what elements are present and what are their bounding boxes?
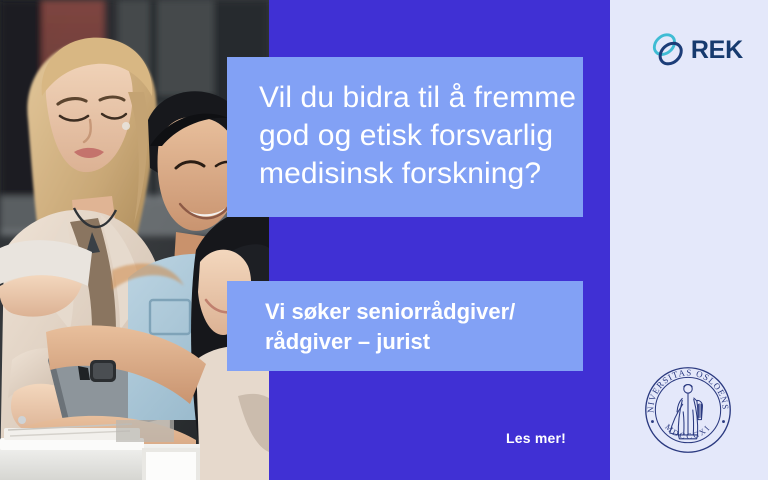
headline-line-3: medisinsk forskning?	[259, 155, 553, 193]
headline-card: Vil du bidra til å fremme god og etisk f…	[227, 57, 583, 217]
headline-line-1: Vil du bidra til å fremme	[259, 79, 553, 117]
job-title-line-1: Vi søker seniorrådgiver/	[265, 297, 561, 327]
rek-interlocking-rings-icon	[651, 29, 687, 71]
uio-seal: UNIVERSITAS OSLOENSIS MDCCCXI	[640, 362, 736, 458]
headline-line-2: god og etisk forsvarlig	[259, 117, 553, 155]
read-more-link[interactable]: Les mer!	[506, 430, 566, 446]
rek-wordmark: REK	[691, 38, 743, 63]
rek-recruitment-banner: Vil du bidra til å fremme god og etisk f…	[0, 0, 768, 480]
job-title-line-2: rådgiver – jurist	[265, 327, 561, 357]
rek-logo[interactable]: REK	[651, 28, 743, 72]
uio-seal-icon: UNIVERSITAS OSLOENSIS MDCCCXI	[640, 362, 736, 458]
job-title-card: Vi søker seniorrådgiver/ rådgiver – juri…	[227, 281, 583, 371]
